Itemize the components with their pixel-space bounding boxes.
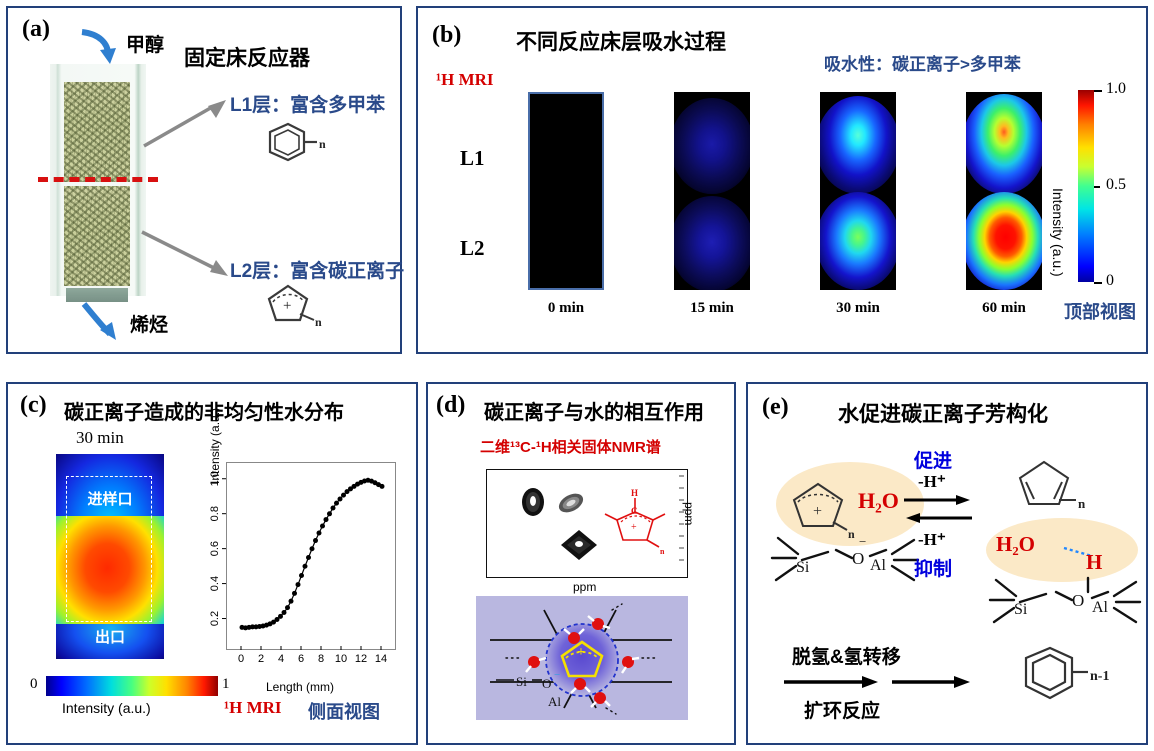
svg-text:O: O: [1072, 591, 1084, 610]
svg-text:14: 14: [375, 653, 387, 665]
panel-d-nmr-interaction: (d) 碳正离子与水的相互作用 二维¹³C-¹H相关固体NMR谱: [426, 382, 736, 745]
mri-image-15min: [674, 92, 750, 290]
mri-image-60min: [966, 92, 1042, 290]
bottom-arrow-top-label: 脱氢&氢转移: [792, 642, 901, 669]
forward-species-label: -H⁺: [918, 472, 946, 492]
svg-text:0: 0: [238, 653, 244, 665]
inlet-label: 甲醇: [126, 30, 164, 57]
inlet-arrow-icon: [78, 28, 124, 68]
svg-text:4: 4: [278, 653, 284, 665]
panel-c-colorbar-title: Intensity (a.u.): [62, 700, 151, 716]
svg-text:Si: Si: [516, 674, 527, 689]
mri-image-0min: [528, 92, 604, 290]
panel-c-water-distribution: (c) 碳正离子造成的非均匀性水分布 30 min 进样口 出口 0 1 Int…: [6, 382, 418, 745]
catalyst-bed-layer1: [64, 82, 130, 182]
svg-text:Al: Al: [1092, 599, 1109, 616]
colorbar-ticks-icon: [1094, 86, 1104, 288]
mri-side-view-image: 进样口 出口: [56, 454, 164, 659]
plot-axis-ticks: 024681012140.20.40.60.81.0: [188, 454, 418, 684]
layer-divider-dashed-line: [38, 177, 158, 182]
svg-text:n: n: [1078, 496, 1086, 511]
layer1-pointer-arrow-icon: [138, 96, 230, 152]
colorbar-axis-title: Intensity (a.u.): [1050, 188, 1066, 277]
reverse-species-label: -H⁺: [918, 530, 946, 550]
modality-label: ¹H MRI: [436, 70, 494, 90]
layer1-label: L1层：富含多甲苯: [230, 90, 385, 117]
colorbar-tick-min: 0: [1106, 272, 1114, 290]
bottom-double-arrow-icon: [782, 672, 982, 694]
svg-text:n: n: [315, 315, 322, 329]
colorbar-tick-max: 1.0: [1106, 80, 1126, 98]
view-label-top: 顶部视图: [1064, 298, 1136, 324]
outlet-arrow-icon: [80, 300, 128, 342]
panel-c-modality-label: ¹H MRI: [224, 698, 282, 718]
layer2-label: L2层：富含碳正离子: [230, 256, 404, 283]
svg-text:Si: Si: [1014, 601, 1028, 618]
panel-b-note: 吸水性：碳正离子>多甲苯: [824, 50, 1021, 75]
svg-text:C: C: [631, 506, 638, 516]
time-label-60min: 60 min: [959, 300, 1049, 317]
outlet-label-c: 出口: [56, 626, 164, 647]
svg-text:Al: Al: [548, 694, 561, 709]
zeolite-pore-cartoon: + Si O − Al: [476, 596, 688, 720]
panel-d-subtitle: 二维¹³C-¹H相关固体NMR谱: [480, 436, 661, 457]
panel-b-tag: (b): [432, 22, 461, 49]
nmr-y-axis-label: ppm: [682, 502, 696, 525]
nmr-2d-spectrum: H C + n: [486, 469, 688, 578]
panel-c-time-label: 30 min: [76, 428, 124, 448]
svg-text:O: O: [542, 676, 551, 691]
panel-d-tag: (d): [436, 392, 465, 419]
svg-text:8: 8: [318, 653, 324, 665]
right-alkene-structure-icon: n: [1006, 456, 1126, 518]
svg-text:1.0: 1.0: [209, 471, 221, 486]
inlet-label-c: 进样口: [56, 488, 164, 509]
zeolite-cartoon-icon: + Si O − Al: [476, 596, 688, 720]
carbocation-structure-icon: + n: [258, 280, 334, 332]
panel-c-colorbar-min: 0: [30, 676, 38, 693]
svg-text:−: −: [554, 669, 560, 681]
panel-a-tag: (a): [22, 16, 50, 43]
left-water-label: H₂O: [858, 488, 899, 514]
colorbar-tick-mid: 0.5: [1106, 176, 1126, 194]
colorbar-gradient: [1078, 90, 1094, 282]
panel-c-tag: (c): [20, 392, 47, 419]
right-water-label: H₂O: [996, 532, 1035, 557]
panel-e-aromatization-scheme: (e) 水促进碳正离子芳构化 + n H₂O Si O − Al 促进 -H⁺: [746, 382, 1148, 745]
svg-text:Si: Si: [796, 559, 810, 576]
row-label-l2: L2: [460, 236, 485, 261]
svg-text:0.8: 0.8: [209, 506, 221, 521]
nmr-contours-icon: H C + n: [487, 470, 685, 575]
svg-text:6: 6: [298, 653, 304, 665]
svg-text:+: +: [577, 645, 585, 660]
panel-e-tag: (e): [762, 394, 789, 421]
equilibrium-arrows-icon: [902, 494, 974, 528]
svg-text:−: −: [859, 534, 866, 549]
panel-a-fixed-bed-reactor: (a) 固定床反应器 甲醇 L1层：富含多甲苯 n L2层：富含碳正离子 + n: [6, 6, 402, 354]
svg-text:n: n: [660, 547, 665, 556]
svg-text:n: n: [319, 137, 326, 151]
catalyst-bed-layer2: [64, 186, 130, 286]
layer2-pointer-arrow-icon: [136, 226, 234, 284]
svg-text:+: +: [813, 503, 822, 520]
row-label-l1: L1: [460, 146, 485, 171]
svg-text:+: +: [631, 522, 637, 533]
polymethylbenzene-structure-icon: n: [258, 120, 332, 170]
panel-b-mri-timeseries: (b) 不同反应床层吸水过程 吸水性：碳正离子>多甲苯 ¹H MRI L1 L2…: [416, 6, 1148, 354]
svg-text:0.6: 0.6: [209, 541, 221, 556]
svg-text:12: 12: [355, 653, 367, 665]
panel-b-title: 不同反应床层吸水过程: [516, 26, 726, 56]
svg-text:0.2: 0.2: [209, 611, 221, 626]
bottom-arrow-bottom-label: 扩环反应: [804, 696, 880, 723]
svg-text:0.4: 0.4: [209, 576, 221, 591]
view-label-side: 侧面视图: [308, 698, 380, 724]
svg-text:O: O: [852, 549, 864, 568]
nmr-x-axis-label: ppm: [573, 580, 596, 594]
panel-c-title: 碳正离子造成的非均匀性水分布: [64, 396, 344, 425]
outlet-label: 烯烃: [130, 310, 168, 337]
panel-a-title: 固定床反应器: [184, 42, 310, 72]
svg-text:H: H: [631, 488, 638, 498]
panel-d-title: 碳正离子与水的相互作用: [484, 396, 704, 425]
mri-image-30min: [820, 92, 896, 290]
reverse-condition-label: 抑制: [914, 554, 952, 581]
svg-text:10: 10: [335, 653, 347, 665]
svg-text:n-1: n-1: [1090, 669, 1109, 684]
forward-condition-label: 促进: [914, 446, 952, 473]
time-label-30min: 30 min: [813, 300, 903, 317]
aromatic-product-structure-icon: n-1: [1006, 642, 1136, 718]
time-label-15min: 15 min: [667, 300, 757, 317]
svg-text:2: 2: [258, 653, 264, 665]
time-label-0min: 0 min: [521, 300, 611, 317]
panel-e-title: 水促进碳正离子芳构化: [838, 398, 1048, 428]
svg-text:+: +: [283, 298, 291, 314]
svg-text:Al: Al: [870, 557, 887, 574]
